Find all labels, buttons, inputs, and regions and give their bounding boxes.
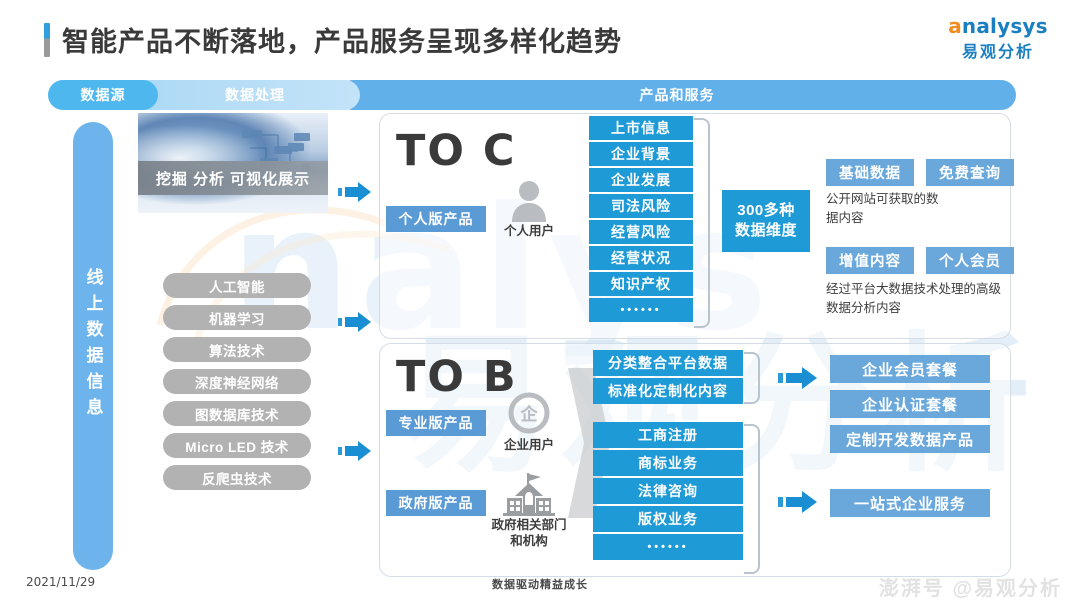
toc-chip[interactable]: 上市信息 bbox=[589, 116, 693, 140]
tech-pill[interactable]: 算法技术 bbox=[163, 337, 311, 362]
band-segment-datasource: 数据源 bbox=[48, 80, 158, 110]
dimension-badge: 300多种 数据维度 bbox=[722, 190, 810, 252]
tech-pill[interactable]: 人工智能 bbox=[163, 273, 311, 298]
flow-arrow-icon bbox=[778, 366, 818, 390]
tob-bracket-platform bbox=[744, 352, 760, 404]
toc-chip[interactable]: 知识产权 bbox=[589, 272, 693, 296]
tech-pill[interactable]: 深度神经网络 bbox=[163, 369, 311, 394]
tob-enterprise-user-label: 企业用户 bbox=[486, 438, 572, 454]
enterprise-circle-icon: 企 bbox=[506, 392, 552, 436]
logo-latin-rest: nalysys bbox=[962, 14, 1048, 38]
page-title: 智能产品不断落地，产品服务呈现多样化趋势 bbox=[44, 20, 622, 59]
toc-output-box[interactable]: 个人会员 bbox=[926, 247, 1014, 274]
toc-version-tag[interactable]: 个人版产品 bbox=[386, 206, 486, 232]
tech-pill[interactable]: 图数据库技术 bbox=[163, 401, 311, 426]
visualization-image-card: 挖掘 分析 可视化展示 bbox=[138, 113, 328, 213]
tob-gov-user-group: 政府相关部门和机构 bbox=[486, 472, 572, 549]
toc-chip-list: 上市信息 企业背景 企业发展 司法风险 经营风险 经营状况 知识产权 •••••… bbox=[589, 116, 693, 324]
toc-chip[interactable]: 司法风险 bbox=[589, 194, 693, 218]
person-icon bbox=[506, 178, 552, 222]
title-accent-bar bbox=[44, 23, 50, 57]
flow-arrow-icon bbox=[338, 440, 372, 462]
left-vertical-column-label: 线上数据信息 bbox=[81, 268, 106, 424]
tob-chip[interactable]: 标准化定制化内容 bbox=[593, 378, 743, 404]
flow-arrow-icon bbox=[778, 490, 818, 514]
footer-watermark: 澎湃号 @易观分析 bbox=[879, 572, 1062, 601]
toc-chip[interactable]: 经营风险 bbox=[589, 220, 693, 244]
tob-version-tag-pro[interactable]: 专业版产品 bbox=[386, 410, 486, 436]
tob-chip[interactable]: 商标业务 bbox=[593, 450, 743, 476]
flow-arrow-icon bbox=[338, 181, 372, 203]
tob-result-box[interactable]: 企业认证套餐 bbox=[830, 390, 990, 418]
toc-chip[interactable]: 企业背景 bbox=[589, 142, 693, 166]
tech-pill[interactable]: 反爬虫技术 bbox=[163, 465, 311, 490]
tob-chip[interactable]: 法律咨询 bbox=[593, 478, 743, 504]
page-title-text: 智能产品不断落地，产品服务呈现多样化趋势 bbox=[62, 20, 622, 59]
toc-description-basic: 公开网站可获取的数据内容 bbox=[826, 190, 946, 228]
band-segment-products: 产品和服务 bbox=[338, 80, 1016, 110]
left-vertical-column: 线上数据信息 bbox=[73, 122, 113, 570]
toc-user-group: 个人用户 bbox=[486, 178, 572, 240]
toc-output-box[interactable]: 增值内容 bbox=[826, 247, 914, 274]
tob-chip[interactable]: 工商注册 bbox=[593, 422, 743, 448]
svg-text:企: 企 bbox=[520, 404, 539, 425]
logo-latin-text: analysys bbox=[938, 16, 1058, 37]
logo-chinese-text: 易观分析 bbox=[938, 38, 1058, 62]
dimension-badge-line1: 300多种 bbox=[737, 201, 795, 221]
brand-logo: analysys 易观分析 bbox=[938, 16, 1058, 62]
tob-version-tag-gov[interactable]: 政府版产品 bbox=[386, 490, 486, 516]
infographic-root: nalys 易观分析 智能产品不断落地，产品服务呈现多样化趋势 analysys… bbox=[0, 0, 1080, 608]
toc-user-label: 个人用户 bbox=[486, 224, 572, 240]
tob-result-box[interactable]: 企业会员套餐 bbox=[830, 355, 990, 383]
tob-result-box[interactable]: 定制开发数据产品 bbox=[830, 425, 990, 453]
toc-chip-ellipsis[interactable]: •••••• bbox=[589, 298, 693, 322]
stage-band: 产品和服务 数据处理 数据源 bbox=[48, 80, 1016, 110]
toc-title: TO C bbox=[396, 126, 516, 176]
tob-chip-list-platform: 分类整合平台数据 标准化定制化内容 bbox=[593, 350, 743, 406]
toc-output-box[interactable]: 免费查询 bbox=[926, 159, 1014, 186]
toc-bracket bbox=[694, 118, 710, 328]
tob-chip-ellipsis[interactable]: •••••• bbox=[593, 534, 743, 560]
government-building-icon bbox=[503, 472, 555, 516]
tob-chip[interactable]: 版权业务 bbox=[593, 506, 743, 532]
image-card-caption: 挖掘 分析 可视化展示 bbox=[138, 161, 328, 195]
dimension-badge-line2: 数据维度 bbox=[735, 221, 797, 241]
tob-result-box[interactable]: 一站式企业服务 bbox=[830, 489, 990, 517]
tech-pill[interactable]: 机器学习 bbox=[163, 305, 311, 330]
toc-chip[interactable]: 企业发展 bbox=[589, 168, 693, 192]
toc-output-box[interactable]: 基础数据 bbox=[826, 159, 914, 186]
tob-bracket-services bbox=[744, 424, 760, 574]
toc-description-premium: 经过平台大数据技术处理的高级数据分析内容 bbox=[826, 280, 1006, 318]
tob-gov-user-label: 政府相关部门和机构 bbox=[486, 518, 572, 549]
tob-chip-list-services: 工商注册 商标业务 法律咨询 版权业务 •••••• bbox=[593, 422, 743, 562]
tob-enterprise-user-group: 企 企业用户 bbox=[486, 392, 572, 454]
tech-pill-list: 人工智能 机器学习 算法技术 深度神经网络 图数据库技术 Micro LED 技… bbox=[163, 273, 311, 497]
tob-chip[interactable]: 分类整合平台数据 bbox=[593, 350, 743, 376]
logo-swoosh-icon: a bbox=[948, 14, 962, 38]
tech-pill[interactable]: Micro LED 技术 bbox=[163, 433, 311, 458]
toc-chip[interactable]: 经营状况 bbox=[589, 246, 693, 270]
flow-arrow-icon bbox=[338, 311, 372, 333]
